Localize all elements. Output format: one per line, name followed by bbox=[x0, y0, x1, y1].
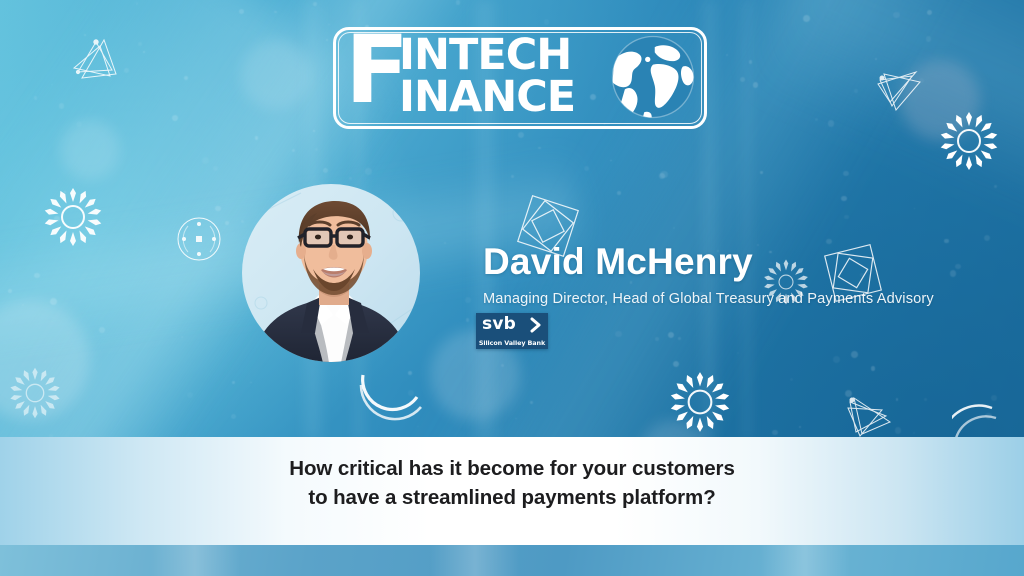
bokeh-dot bbox=[215, 206, 221, 212]
bokeh-dot bbox=[871, 366, 876, 371]
bokeh-dot bbox=[530, 401, 532, 403]
bokeh-dot bbox=[213, 166, 219, 172]
bokeh-dot bbox=[924, 398, 927, 401]
bokeh-dot bbox=[172, 115, 178, 121]
question-line-2: to have a streamlined payments platform? bbox=[0, 483, 1024, 512]
bokeh-dot bbox=[737, 352, 739, 354]
avatar bbox=[241, 183, 421, 363]
bokeh-dot bbox=[799, 426, 802, 429]
bokeh-dot bbox=[753, 82, 758, 87]
globe-icon bbox=[609, 33, 697, 121]
bokeh-dot bbox=[845, 390, 853, 398]
circular-target-icon bbox=[168, 208, 230, 270]
bokeh-dot bbox=[740, 77, 745, 82]
svb-wordmark: svb bbox=[476, 313, 522, 336]
bokeh-dot bbox=[673, 227, 675, 229]
bokeh-dot bbox=[466, 318, 470, 322]
bokeh-dot bbox=[54, 216, 60, 222]
bokeh-dot bbox=[34, 273, 39, 278]
bokeh-dot bbox=[274, 11, 277, 14]
bokeh-dot bbox=[544, 19, 549, 24]
bokeh-dot bbox=[843, 171, 848, 176]
bokeh-dot bbox=[202, 157, 209, 164]
wireframe-triangle-icon bbox=[60, 30, 130, 100]
bokeh-glow bbox=[60, 120, 120, 180]
bokeh-dot bbox=[99, 327, 106, 334]
bokeh-dot bbox=[844, 215, 848, 219]
bokeh-dot bbox=[511, 175, 513, 177]
logo-wordmark: F INTECH INANCE bbox=[347, 32, 607, 124]
bokeh-dot bbox=[660, 171, 667, 178]
svb-company-name: Silicon Valley Bank bbox=[476, 336, 548, 349]
bokeh-dot bbox=[124, 68, 129, 73]
bokeh-dot bbox=[456, 0, 461, 5]
bokeh-dot bbox=[323, 168, 328, 173]
bokeh-dot bbox=[501, 364, 504, 367]
bokeh-dot bbox=[895, 427, 902, 434]
question-text: How critical has it become for your cust… bbox=[0, 454, 1024, 512]
bokeh-dot bbox=[365, 168, 372, 175]
bokeh-dot bbox=[919, 78, 924, 83]
bokeh-dot bbox=[673, 361, 679, 367]
bokeh-dot bbox=[444, 242, 446, 244]
bokeh-dot bbox=[760, 171, 763, 174]
bokeh-dot bbox=[518, 132, 524, 138]
bokeh-dot bbox=[610, 160, 612, 162]
bokeh-dot bbox=[239, 9, 244, 14]
bokeh-dot bbox=[749, 60, 752, 63]
bokeh-dot bbox=[655, 337, 659, 341]
bokeh-dot bbox=[326, 39, 328, 41]
chevron-right-icon bbox=[523, 313, 548, 336]
footer-streak bbox=[150, 545, 240, 576]
speaker-title: Managing Director, Head of Global Treasu… bbox=[483, 291, 1003, 309]
bokeh-dot bbox=[668, 332, 674, 338]
bokeh-dot bbox=[617, 191, 621, 195]
svb-logo-row: svb bbox=[476, 313, 548, 336]
bokeh-dot bbox=[841, 196, 847, 202]
bokeh-dot bbox=[826, 103, 827, 104]
bokeh-dot bbox=[893, 12, 900, 19]
speaker-name: David McHenry bbox=[483, 243, 1003, 280]
bokeh-dot bbox=[856, 398, 859, 401]
silicon-valley-bank-logo: svb Silicon Valley Bank bbox=[476, 313, 548, 349]
bokeh-dot bbox=[328, 24, 329, 25]
bokeh-dot bbox=[927, 10, 932, 15]
bokeh-glow bbox=[0, 300, 90, 420]
bokeh-dot bbox=[985, 413, 991, 419]
bokeh-dot bbox=[181, 336, 183, 338]
logo-line-2: INANCE bbox=[399, 76, 575, 119]
presentation-slide: F INTECH INANCE bbox=[0, 0, 1024, 576]
bokeh-dot bbox=[914, 208, 915, 209]
logo-line-1: INTECH bbox=[399, 34, 571, 77]
bokeh-dot bbox=[926, 36, 931, 41]
bokeh-dot bbox=[292, 149, 296, 153]
bokeh-dot bbox=[136, 2, 139, 5]
bokeh-dot bbox=[678, 337, 681, 340]
bokeh-dot bbox=[225, 221, 229, 225]
bokeh-dot bbox=[833, 356, 840, 363]
bokeh-dot bbox=[465, 297, 471, 303]
bokeh-dot bbox=[138, 42, 142, 46]
question-line-1: How critical has it become for your cust… bbox=[0, 454, 1024, 483]
question-banner: How critical has it become for your cust… bbox=[0, 437, 1024, 545]
bokeh-dot bbox=[34, 96, 37, 99]
footer-bar bbox=[0, 545, 1024, 576]
bokeh-glow bbox=[240, 40, 310, 110]
bokeh-dot bbox=[896, 398, 899, 401]
speaker-info: David McHenry Managing Director, Head of… bbox=[483, 243, 1003, 309]
bokeh-glow bbox=[900, 60, 980, 140]
bokeh-dot bbox=[59, 103, 65, 109]
bokeh-dot bbox=[615, 331, 622, 338]
bokeh-dot bbox=[78, 93, 80, 95]
bokeh-dot bbox=[815, 118, 818, 121]
bokeh-dot bbox=[315, 148, 318, 151]
bokeh-dot bbox=[51, 84, 52, 85]
bokeh-dot bbox=[994, 185, 997, 188]
bokeh-dot bbox=[984, 235, 990, 241]
bokeh-dot bbox=[790, 378, 793, 381]
bokeh-dot bbox=[854, 89, 858, 93]
light-streak bbox=[742, 0, 752, 440]
bokeh-dot bbox=[851, 351, 858, 358]
bokeh-dot bbox=[772, 430, 777, 435]
bokeh-dot bbox=[875, 58, 877, 60]
bokeh-dot bbox=[828, 120, 834, 126]
sunburst-icon bbox=[42, 186, 104, 248]
bokeh-dot bbox=[726, 54, 728, 56]
bokeh-dot bbox=[143, 51, 145, 53]
bokeh-dot bbox=[973, 131, 975, 133]
bokeh-dot bbox=[231, 414, 237, 420]
bokeh-dot bbox=[538, 147, 541, 150]
bokeh-dot bbox=[255, 136, 259, 140]
bokeh-dot bbox=[232, 381, 235, 384]
bokeh-dot bbox=[50, 298, 57, 305]
arc-ring-icon bbox=[359, 359, 435, 429]
bokeh-dot bbox=[584, 166, 589, 171]
bokeh-dot bbox=[184, 76, 188, 80]
bokeh-dot bbox=[803, 15, 811, 23]
bokeh-dot bbox=[64, 191, 66, 193]
light-streak bbox=[749, 0, 1024, 255]
footer-streak bbox=[430, 545, 520, 576]
bokeh-dot bbox=[84, 34, 87, 37]
bokeh-dot bbox=[515, 418, 517, 420]
bokeh-dot bbox=[991, 395, 997, 401]
bokeh-dot bbox=[8, 289, 12, 293]
bokeh-dot bbox=[187, 392, 193, 398]
bokeh-dot bbox=[913, 432, 915, 434]
speaker-photo bbox=[241, 183, 421, 425]
footer-streak bbox=[760, 545, 850, 576]
fintech-finance-logo: F INTECH INANCE bbox=[333, 27, 707, 129]
